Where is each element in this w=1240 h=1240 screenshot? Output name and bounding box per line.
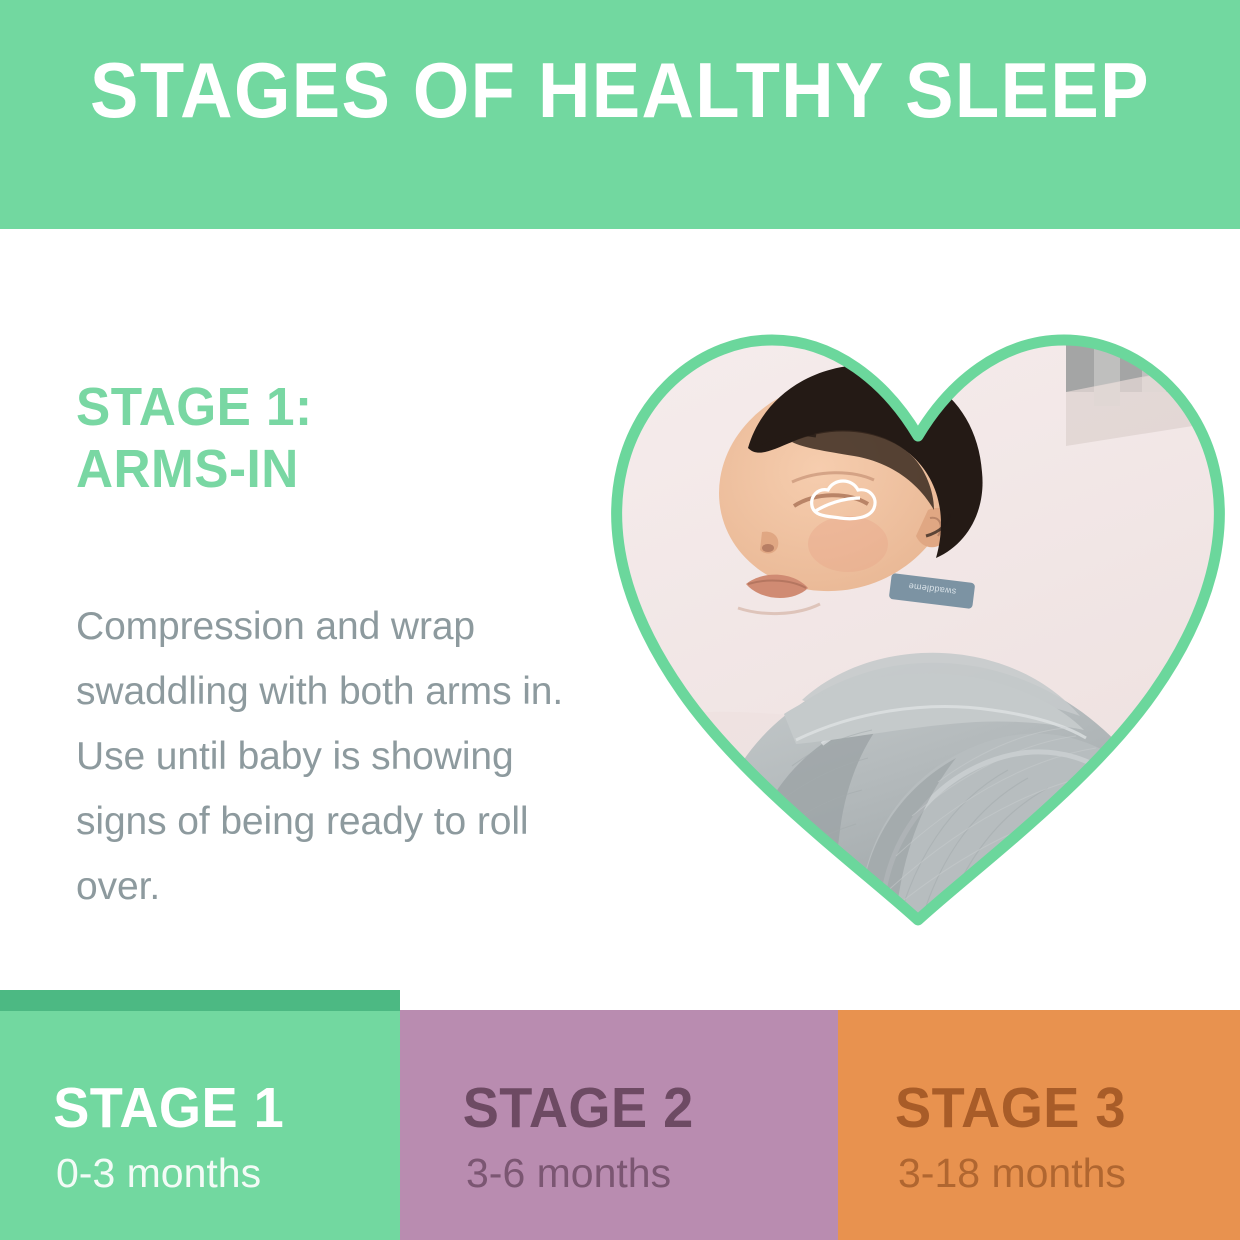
- stage-tab-2-age: 3-6 months: [400, 1150, 838, 1196]
- page-title: STAGES OF HEALTHY SLEEP: [43, 48, 1196, 132]
- header-banner: STAGES OF HEALTHY SLEEP: [0, 0, 1240, 229]
- stage-tab-2-title: STAGE 2: [400, 1078, 816, 1138]
- stage-heading-label: STAGE 1:: [76, 377, 313, 437]
- stage-tabs: STAGE 1 0-3 months STAGE 2 3-6 months ST…: [0, 990, 1240, 1240]
- stage-tab-1-active-accent: [0, 990, 400, 1011]
- stage-heading-name: ARMS-IN: [76, 438, 551, 500]
- stage-tab-3-age: 3-18 months: [838, 1150, 1240, 1196]
- stage-photo-heart: swaddleme: [596, 296, 1240, 936]
- stage-tab-1-age: 0-3 months: [0, 1150, 400, 1196]
- baby-cheek: [808, 516, 888, 572]
- stage-heading: STAGE 1: ARMS-IN: [76, 376, 551, 500]
- stage-tab-1[interactable]: STAGE 1 0-3 months: [0, 990, 400, 1240]
- stage-tab-1-title: STAGE 1: [0, 1078, 380, 1138]
- photo-content: swaddleme: [596, 296, 1240, 936]
- stage-tab-3-title: STAGE 3: [838, 1078, 1220, 1138]
- stage-tab-3[interactable]: STAGE 3 3-18 months: [838, 1010, 1240, 1240]
- infographic-canvas: STAGES OF HEALTHY SLEEP STAGE 1: ARMS-IN…: [0, 0, 1240, 1240]
- stage-tab-2[interactable]: STAGE 2 3-6 months: [400, 1010, 838, 1240]
- stage-description: Compression and wrap swaddling with both…: [76, 594, 576, 919]
